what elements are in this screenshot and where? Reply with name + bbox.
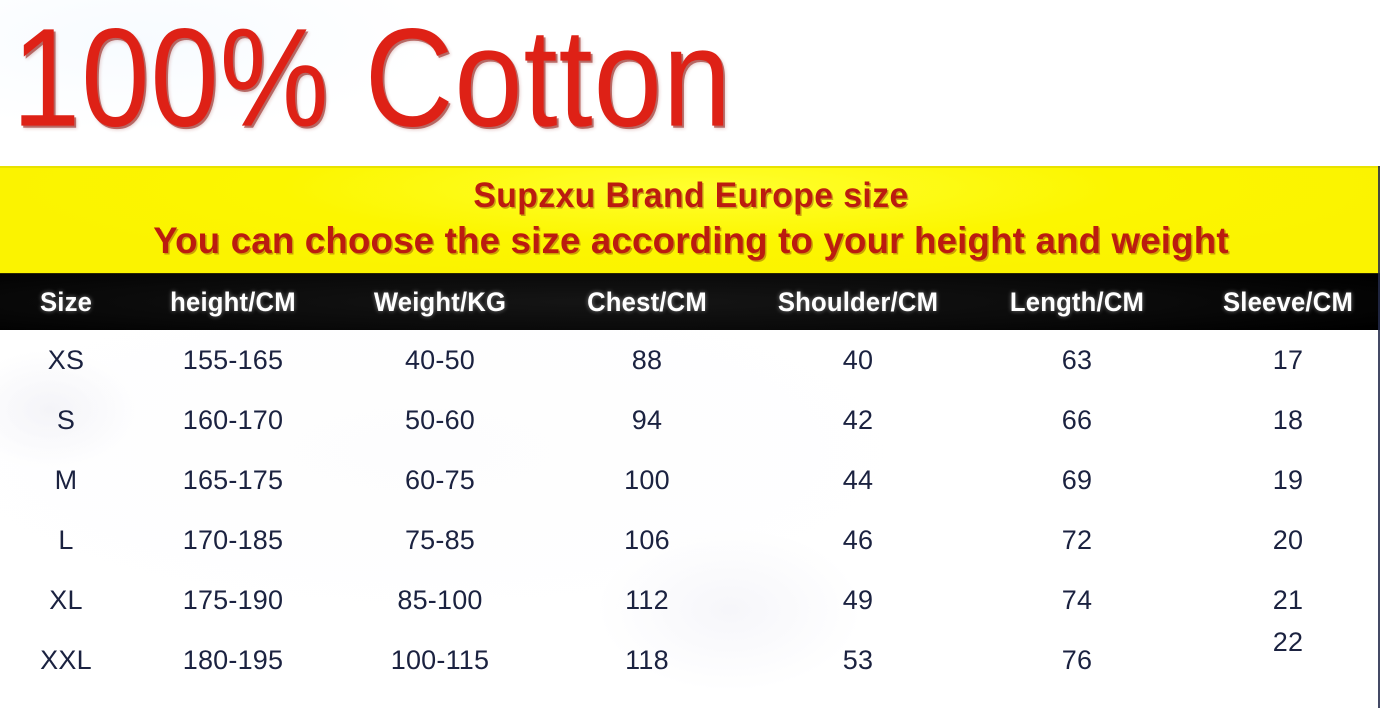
- cell-size-l: L: [0, 510, 132, 570]
- cell-chest-m: 100: [552, 450, 742, 510]
- cell-length-xs: 63: [977, 330, 1177, 390]
- size-chart-image: 100% Cotton Supzxu Brand Europe size You…: [0, 0, 1388, 708]
- instruction-line: You can choose the size according to you…: [7, 220, 1375, 262]
- table-row: L170-18575-85106467220: [0, 510, 1388, 570]
- cell-length-m: 69: [977, 450, 1177, 510]
- cell-weight-s: 50-60: [340, 390, 540, 450]
- table-row: XL175-19085-100112497421: [0, 570, 1388, 630]
- column-header-sleeve-cm: Sleeve/CM: [1193, 274, 1383, 331]
- cell-length-xl: 74: [977, 570, 1177, 630]
- cell-height-xxl: 180-195: [133, 630, 333, 690]
- cell-weight-xxl: 100-115: [340, 630, 540, 690]
- cell-shoulder-l: 46: [753, 510, 963, 570]
- cell-weight-xl: 85-100: [340, 570, 540, 630]
- cell-size-xl: XL: [0, 570, 132, 630]
- cell-height-m: 165-175: [133, 450, 333, 510]
- brand-line: Supzxu Brand Europe size: [28, 176, 1355, 216]
- cell-length-s: 66: [977, 390, 1177, 450]
- cell-shoulder-xs: 40: [753, 330, 963, 390]
- table-row: S160-17050-6094426618: [0, 390, 1388, 450]
- cell-length-xxl: 76: [977, 630, 1177, 690]
- cell-height-xl: 175-190: [133, 570, 333, 630]
- cell-shoulder-xl: 49: [753, 570, 963, 630]
- title-band: 100% Cotton: [0, 0, 1388, 166]
- cell-length-l: 72: [977, 510, 1177, 570]
- cell-shoulder-m: 44: [753, 450, 963, 510]
- cell-chest-xxl: 118: [552, 630, 742, 690]
- cell-sleeve-s: 18: [1188, 390, 1388, 450]
- table-right-border: [1378, 166, 1380, 708]
- size-table: Sizeheight/CMWeight/KGChest/CMShoulder/C…: [0, 273, 1388, 708]
- cell-size-s: S: [0, 390, 132, 450]
- cell-sleeve-xxl: 22: [1188, 612, 1388, 672]
- cell-sleeve-m: 19: [1188, 450, 1388, 510]
- cell-weight-xs: 40-50: [340, 330, 540, 390]
- page-title: 100% Cotton: [12, 8, 732, 148]
- table-header-row: Sizeheight/CMWeight/KGChest/CMShoulder/C…: [0, 273, 1388, 330]
- column-header-height-cm: height/CM: [138, 274, 328, 331]
- cell-shoulder-xxl: 53: [753, 630, 963, 690]
- cell-height-l: 170-185: [133, 510, 333, 570]
- cell-chest-s: 94: [552, 390, 742, 450]
- cell-height-xs: 155-165: [133, 330, 333, 390]
- table-body: XS155-16540-5088406317S160-17050-6094426…: [0, 330, 1388, 708]
- table-row: XS155-16540-5088406317: [0, 330, 1388, 390]
- cell-height-s: 160-170: [133, 390, 333, 450]
- right-margin: [1380, 166, 1388, 708]
- column-header-size: Size: [3, 274, 128, 331]
- cell-size-xxl: XXL: [0, 630, 132, 690]
- column-header-shoulder-cm: Shoulder/CM: [758, 274, 958, 331]
- cell-chest-l: 106: [552, 510, 742, 570]
- cell-weight-m: 60-75: [340, 450, 540, 510]
- cell-chest-xs: 88: [552, 330, 742, 390]
- column-header-weight-kg: Weight/KG: [345, 274, 535, 331]
- cell-sleeve-l: 20: [1188, 510, 1388, 570]
- cell-sleeve-xs: 17: [1188, 330, 1388, 390]
- cell-chest-xl: 112: [552, 570, 742, 630]
- cell-shoulder-s: 42: [753, 390, 963, 450]
- cell-size-xs: XS: [0, 330, 132, 390]
- cell-weight-l: 75-85: [340, 510, 540, 570]
- column-header-length-cm: Length/CM: [982, 274, 1172, 331]
- column-header-chest-cm: Chest/CM: [557, 274, 738, 331]
- cell-size-m: M: [0, 450, 132, 510]
- table-row: M165-17560-75100446919: [0, 450, 1388, 510]
- promo-banner: Supzxu Brand Europe size You can choose …: [0, 166, 1382, 273]
- top-right-margin: [1378, 0, 1388, 168]
- table-row: XXL180-195100-115118537622: [0, 630, 1388, 690]
